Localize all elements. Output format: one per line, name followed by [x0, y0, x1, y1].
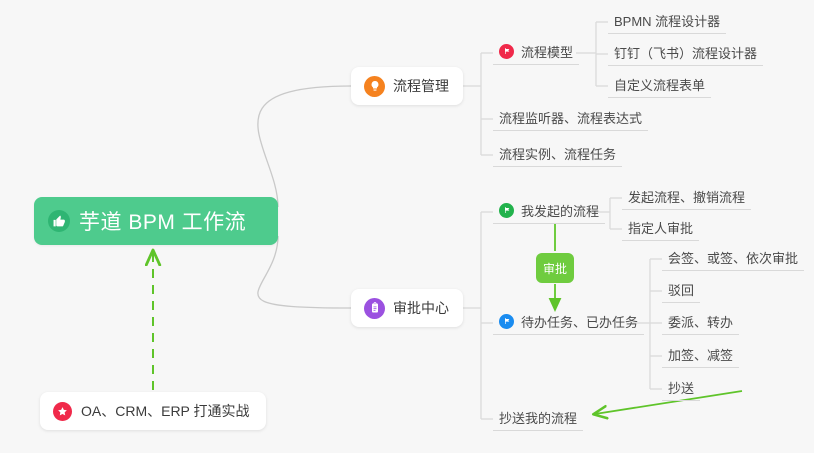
flow-badge-shenpi: 审批	[536, 253, 574, 283]
edge-shenpi-zhongxin-bracket	[463, 212, 493, 419]
flag-icon	[499, 44, 514, 59]
node-zidingyi-biaodan[interactable]: 自定义流程表单	[608, 74, 711, 98]
root-node-label: 芋道 BPM 工作流	[79, 206, 246, 236]
edge-liucheng-guanli-bracket	[463, 53, 493, 155]
node-shili-renwu[interactable]: 流程实例、流程任务	[493, 143, 622, 167]
node-bohui[interactable]: 驳回	[662, 279, 700, 303]
mindmap-canvas: 芋道 BPM 工作流 流程管理 流程模型 BPMN 流程设计器 钉钉（飞书）流程…	[0, 0, 814, 453]
node-label: 发起流程、撤销流程	[628, 187, 745, 206]
node-dingding-feishu-sheji[interactable]: 钉钉（飞书）流程设计器	[608, 42, 763, 66]
branch-node-shenpi-zhongxin[interactable]: 审批中心	[351, 289, 463, 327]
node-label: BPMN 流程设计器	[614, 11, 720, 30]
node-label: 指定人审批	[628, 218, 693, 237]
node-faqi-chexiao[interactable]: 发起流程、撤销流程	[622, 186, 751, 210]
node-label: 加签、减签	[668, 345, 733, 364]
node-wo-faqi-de-liucheng[interactable]: 我发起的流程	[493, 200, 605, 224]
clipboard-icon	[364, 298, 385, 319]
node-label: 抄送	[668, 378, 694, 397]
node-chaosong-wode-liucheng[interactable]: 抄送我的流程	[493, 407, 583, 431]
node-label: 我发起的流程	[521, 201, 599, 220]
node-huiqian-huoqian-yici[interactable]: 会签、或签、依次审批	[662, 247, 804, 271]
node-chaosong[interactable]: 抄送	[662, 377, 700, 401]
node-label: 钉钉（飞书）流程设计器	[614, 43, 757, 62]
thumbs-up-icon	[48, 210, 70, 232]
node-label: 流程实例、流程任务	[499, 144, 616, 163]
node-weipai-zhuanban[interactable]: 委派、转办	[662, 311, 739, 335]
node-liucheng-moxing[interactable]: 流程模型	[493, 41, 579, 65]
node-jiaqian-jianqian[interactable]: 加签、减签	[662, 344, 739, 368]
node-zhidingren-shenpi[interactable]: 指定人审批	[622, 217, 699, 241]
node-daiban-yiban-renwu[interactable]: 待办任务、已办任务	[493, 311, 644, 335]
node-label: 自定义流程表单	[614, 75, 705, 94]
branch-node-label: 审批中心	[393, 298, 449, 318]
node-label: 流程模型	[521, 42, 573, 61]
node-bpmn-sheji[interactable]: BPMN 流程设计器	[608, 10, 726, 34]
node-label: 抄送我的流程	[499, 408, 577, 427]
standalone-node-label: OA、CRM、ERP 打通实战	[81, 401, 250, 421]
node-jiantingqi-biaodashi[interactable]: 流程监听器、流程表达式	[493, 107, 648, 131]
edge-root-to-shenpi-zhongxin	[258, 236, 351, 308]
standalone-node-oa-crm-erp[interactable]: OA、CRM、ERP 打通实战	[40, 392, 266, 430]
flow-badge-label: 审批	[543, 260, 567, 277]
node-label: 流程监听器、流程表达式	[499, 108, 642, 127]
flag-icon	[499, 203, 514, 218]
root-node[interactable]: 芋道 BPM 工作流	[34, 197, 278, 245]
star-icon	[53, 402, 72, 421]
edge-root-to-liucheng-guanli	[258, 86, 351, 207]
flag-icon	[499, 314, 514, 329]
node-label: 驳回	[668, 280, 694, 299]
node-label: 会签、或签、依次审批	[668, 248, 798, 267]
lightbulb-icon	[364, 76, 385, 97]
edge-liucheng-moxing-bracket	[576, 22, 608, 86]
branch-node-label: 流程管理	[393, 76, 449, 96]
branch-node-liucheng-guanli[interactable]: 流程管理	[351, 67, 463, 105]
node-label: 待办任务、已办任务	[521, 312, 638, 331]
node-label: 委派、转办	[668, 312, 733, 331]
